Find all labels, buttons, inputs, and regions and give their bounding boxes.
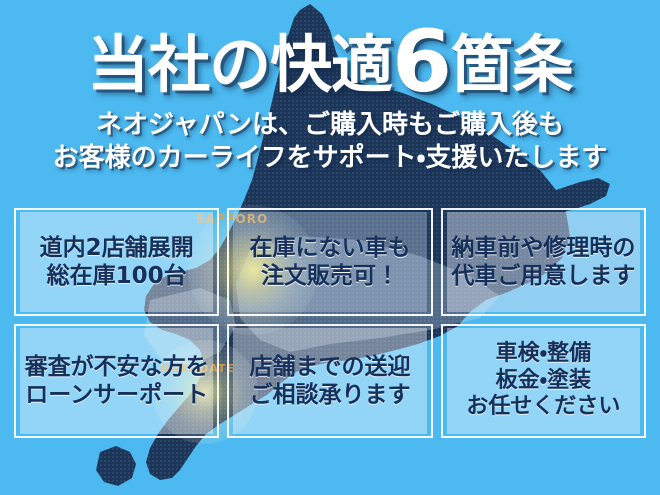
- feature-line: 板金・塗装: [496, 368, 591, 395]
- feature-line: 納車前や修理時の: [451, 234, 635, 262]
- feature-line: 代車ご用意します: [451, 262, 635, 290]
- feature-line: 注文販売可！: [261, 262, 399, 290]
- feature-box-loaner-car[interactable]: 納車前や修理時の 代車ご用意します: [441, 208, 646, 316]
- feature-line: 車検・整備: [496, 341, 591, 368]
- feature-line: ローンサーポート: [25, 381, 208, 409]
- feature-inner: 車検・整備 板金・塗装 お任せください: [447, 328, 640, 434]
- feature-inner: 在庫にない車も 注文販売可！: [233, 212, 426, 312]
- promo-poster: SAPPORO HAKODATE 当社の快適6箇条 ネオジャパンは、ご購入時もご…: [0, 0, 660, 495]
- feature-inner: 納車前や修理時の 代車ご用意します: [447, 212, 640, 312]
- feature-box-loan-support[interactable]: 審査が不安な方を ローンサーポート: [14, 324, 219, 438]
- headline-block: 当社の快適6箇条 ネオジャパンは、ご購入時もご購入後もお客様のカーライフをサポー…: [0, 0, 660, 175]
- feature-inner: 道内2店舗展開 総在庫100台: [20, 212, 213, 312]
- feature-line: お任せください: [466, 394, 620, 421]
- feature-box-inspection-bodywork[interactable]: 車検・整備 板金・塗装 お任せください: [441, 324, 646, 438]
- feature-inner: 審査が不安な方を ローンサーポート: [20, 328, 213, 434]
- feature-line: 在庫にない車も: [249, 234, 410, 262]
- feature-line: 店舗までの送迎: [249, 353, 410, 381]
- feature-line: 審査が不安な方を: [25, 353, 209, 381]
- title-suffix: 箇条: [451, 28, 573, 101]
- subtitle-line-2: お客様のカーライフをサポート・支援いたします: [53, 143, 608, 173]
- title-prefix: 当社の快適: [87, 28, 392, 101]
- feature-line: 道内2店舗展開: [40, 234, 194, 262]
- page-title: 当社の快適6箇条: [0, 0, 660, 97]
- subtitle: ネオジャパンは、ご購入時もご購入後もお客様のカーライフをサポート・支援いたします: [0, 97, 660, 176]
- feature-box-pickup-service[interactable]: 店舗までの送迎 ご相談承ります: [227, 324, 432, 438]
- feature-line: ご相談承ります: [249, 381, 410, 409]
- feature-grid: 道内2店舗展開 総在庫100台 在庫にない車も 注文販売可！ 納車前や修理時の …: [14, 208, 646, 438]
- feature-line: 総在庫100台: [47, 262, 187, 290]
- feature-inner: 店舗までの送迎 ご相談承ります: [233, 328, 426, 434]
- feature-box-special-order[interactable]: 在庫にない車も 注文販売可！: [227, 208, 432, 316]
- feature-box-store-count[interactable]: 道内2店舗展開 総在庫100台: [14, 208, 219, 316]
- subtitle-line-1: ネオジャパンは、ご購入時もご購入後も: [96, 110, 564, 140]
- title-number-6: 6: [392, 12, 451, 112]
